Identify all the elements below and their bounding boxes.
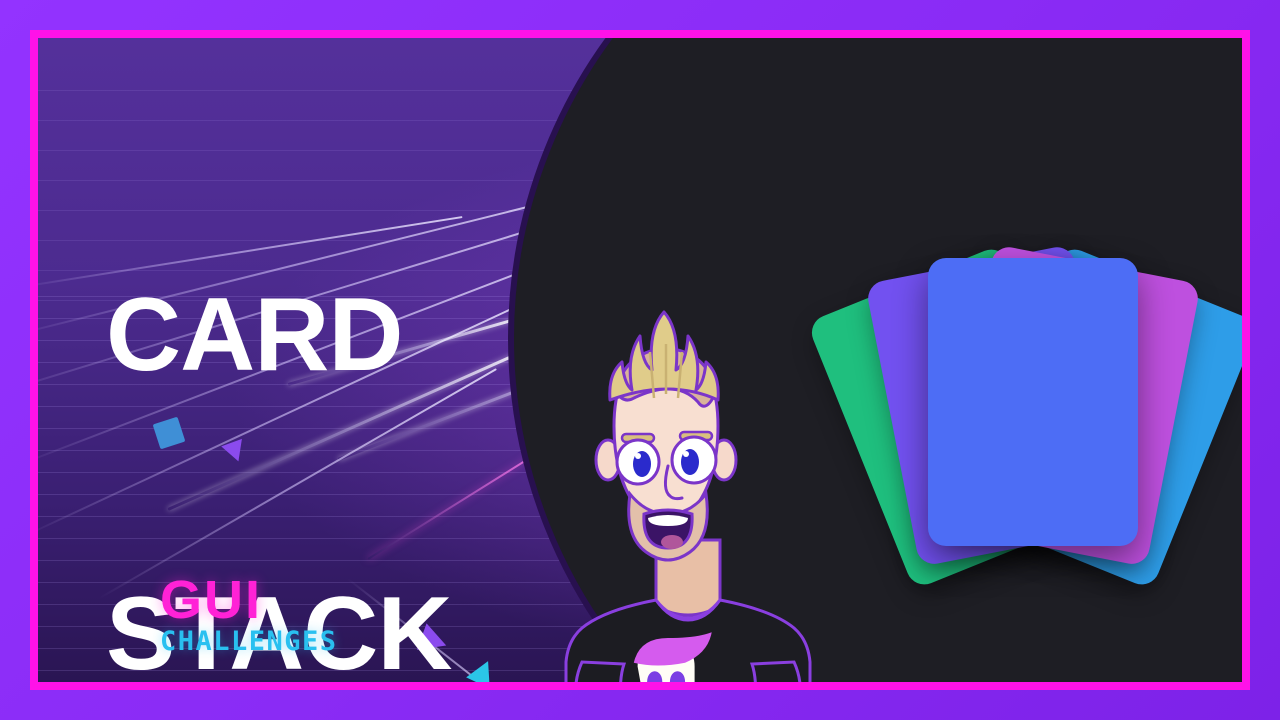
title-line-1: CARD (106, 286, 452, 386)
sleeve-right (752, 662, 800, 682)
teeth (648, 515, 688, 526)
logo-secondary-text: CHALLENGES (160, 627, 338, 657)
host-character (538, 308, 838, 682)
thumbnail-stage: CARD STACK GUI CHALLENGES (0, 0, 1280, 720)
character-hair (610, 312, 719, 400)
tongue (661, 535, 683, 549)
card-stack[interactable] (798, 218, 1242, 618)
magenta-frame: CARD STACK GUI CHALLENGES (30, 30, 1250, 690)
gui-challenges-logo: GUI CHALLENGES (160, 576, 338, 656)
logo-primary-text: GUI (160, 576, 338, 625)
content-panel: CARD STACK GUI CHALLENGES (38, 38, 1242, 682)
card-blue-front[interactable] (928, 258, 1138, 546)
sleeve-left (576, 662, 624, 682)
character-illustration (538, 308, 838, 682)
